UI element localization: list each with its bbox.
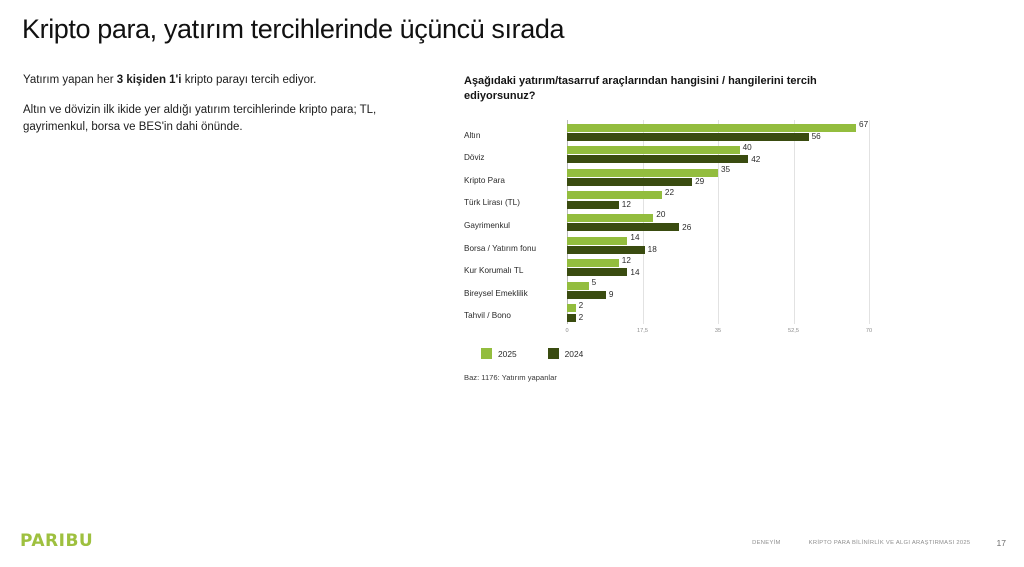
bar-value-label: 14: [630, 234, 639, 242]
bar-row: 29: [567, 178, 869, 186]
bar-2024: [567, 201, 619, 209]
bar-2024: [567, 291, 606, 299]
bar-value-label: 9: [609, 291, 614, 299]
category-label: Kripto Para: [464, 176, 564, 186]
bar-row: 12: [567, 201, 869, 209]
lead-paragraph: Yatırım yapan her 3 kişiden 1'i kripto p…: [23, 72, 383, 88]
axis-tick-label: 52,5: [788, 328, 799, 334]
legend-swatch-icon-2024: [548, 348, 559, 359]
bar-row: 9: [567, 291, 869, 299]
bar-row: 14: [567, 237, 869, 245]
bar-value-label: 40: [743, 144, 752, 152]
bar-2025: [567, 124, 856, 132]
bar-2025: [567, 304, 576, 312]
category-label: Altın: [464, 131, 564, 141]
category-label: Döviz: [464, 153, 564, 163]
chart-base-note: Baz: 1176: Yatırım yapanlar: [464, 373, 557, 382]
bar-row: 56: [567, 133, 869, 141]
bar-row: 67: [567, 124, 869, 132]
legend-label-2024: 2024: [565, 349, 584, 359]
bar-2025: [567, 146, 740, 154]
category-label: Türk Lirası (TL): [464, 198, 564, 208]
bar-value-label: 29: [695, 178, 704, 186]
bar-value-label: 12: [622, 201, 631, 209]
bar-value-label: 26: [682, 224, 691, 232]
value-axis-ticks: 017,53552,570: [567, 328, 869, 340]
bar-row: 12: [567, 259, 869, 267]
axis-tick-label: 0: [565, 328, 568, 334]
bar-row: 22: [567, 191, 869, 199]
bar-value-label: 5: [592, 279, 597, 287]
bar-2024: [567, 268, 627, 276]
bar-row: 2: [567, 314, 869, 322]
category-label: Borsa / Yatırım fonu: [464, 244, 564, 254]
category-label: Gayrimenkul: [464, 221, 564, 231]
bar-2024: [567, 178, 692, 186]
bar-value-label: 18: [648, 246, 657, 254]
bar-value-label: 22: [665, 189, 674, 197]
bar-chart: AltınDövizKripto ParaTürk Lirası (TL)Gay…: [464, 120, 884, 342]
body-paragraph: Altın ve dövizin ilk ikide yer aldığı ya…: [23, 102, 383, 135]
bar-2025: [567, 169, 718, 177]
bar-value-label: 42: [751, 156, 760, 164]
gridline: [869, 120, 870, 324]
bar-value-label: 14: [630, 269, 639, 277]
bar-value-label: 20: [656, 211, 665, 219]
slide: Kripto para, yatırım tercihlerinde üçünc…: [0, 0, 1024, 567]
bar-2025: [567, 282, 589, 290]
bar-2024: [567, 155, 748, 163]
lead-bold: 3 kişiden 1'i: [117, 74, 182, 86]
bar-value-label: 2: [579, 302, 584, 310]
footer-page-number: 17: [996, 538, 1006, 548]
chart-question: Aşağıdaki yatırım/tasarruf araçlarından …: [464, 74, 869, 104]
legend-swatch-icon-2025: [481, 348, 492, 359]
bar-row: 20: [567, 214, 869, 222]
legend-item-2025: 2025: [481, 348, 517, 359]
bar-2024: [567, 246, 645, 254]
bar-value-label: 35: [721, 166, 730, 174]
lead-prefix: Yatırım yapan her: [23, 74, 117, 86]
bar-row: 42: [567, 155, 869, 163]
lead-suffix: kripto parayı tercih ediyor.: [182, 74, 317, 86]
bar-2024: [567, 223, 679, 231]
legend-item-2024: 2024: [548, 348, 584, 359]
category-label: Bireysel Emeklilik: [464, 289, 564, 299]
bar-2025: [567, 191, 662, 199]
bar-value-label: 67: [859, 121, 868, 129]
page-title: Kripto para, yatırım tercihlerinde üçünc…: [22, 12, 564, 46]
bar-2025: [567, 259, 619, 267]
bar-2025: [567, 214, 653, 222]
bar-value-label: 2: [579, 314, 584, 322]
bar-value-label: 12: [622, 257, 631, 265]
bar-row: 40: [567, 146, 869, 154]
bar-2024: [567, 133, 809, 141]
bar-row: 26: [567, 223, 869, 231]
legend-label-2025: 2025: [498, 349, 517, 359]
bar-row: 14: [567, 268, 869, 276]
footer: DENEYİM KRİPTO PARA BİLİNİRLİK VE ALGI A…: [752, 538, 1006, 548]
bar-row: 5: [567, 282, 869, 290]
chart-panel: Aşağıdaki yatırım/tasarruf araçlarından …: [464, 74, 884, 342]
category-label: Kur Korumalı TL: [464, 266, 564, 276]
footer-section: DENEYİM: [752, 540, 781, 546]
axis-tick-label: 35: [715, 328, 721, 334]
bar-row: 18: [567, 246, 869, 254]
bar-row: 35: [567, 169, 869, 177]
chart-legend: 2025 2024: [481, 348, 605, 359]
bar-2025: [567, 237, 627, 245]
bar-2024: [567, 314, 576, 322]
paribu-logo: PARIBU: [20, 531, 93, 551]
plot-area: 67564042352922122026141812145922: [567, 120, 869, 324]
axis-tick-label: 70: [866, 328, 872, 334]
axis-tick-label: 17,5: [637, 328, 648, 334]
category-label: Tahvil / Bono: [464, 311, 564, 321]
footer-study-title: KRİPTO PARA BİLİNİRLİK VE ALGI ARAŞTIRMA…: [809, 540, 971, 546]
bar-value-label: 56: [812, 133, 821, 141]
category-axis: AltınDövizKripto ParaTürk Lirası (TL)Gay…: [464, 120, 564, 324]
left-text-column: Yatırım yapan her 3 kişiden 1'i kripto p…: [23, 72, 383, 135]
bar-row: 2: [567, 304, 869, 312]
